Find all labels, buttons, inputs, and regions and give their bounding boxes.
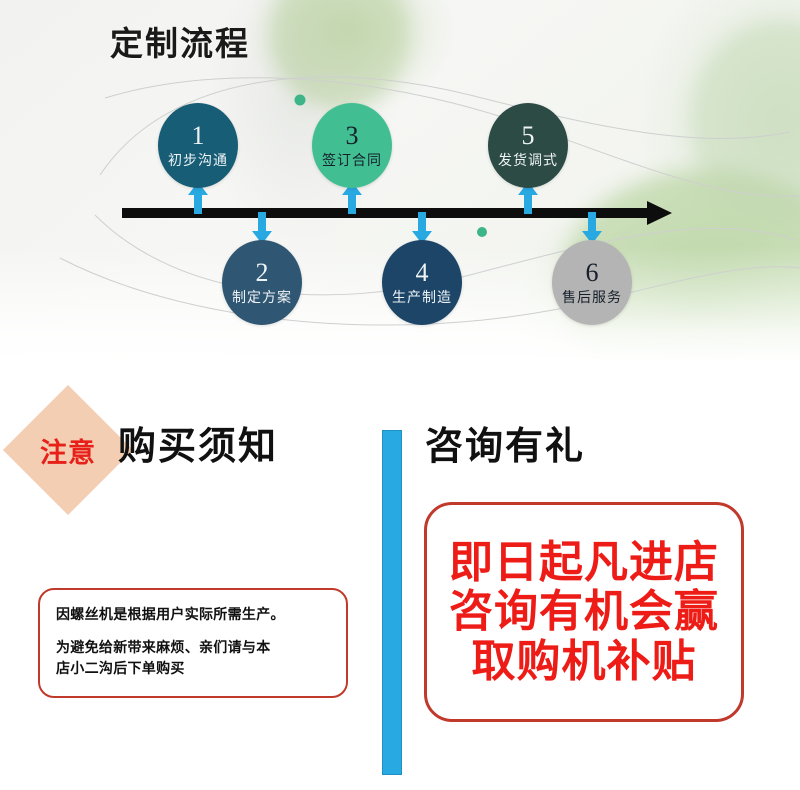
promo-line-2: 咨询有机会赢 bbox=[449, 587, 719, 636]
process-step-3[interactable]: 3 签订合同 bbox=[312, 103, 392, 188]
notice-line-3: 店小二沟后下单购买 bbox=[56, 658, 330, 678]
step-label: 发货调式 bbox=[498, 155, 558, 169]
purchase-notice-heading: 购买须知 bbox=[118, 415, 278, 470]
step-number: 4 bbox=[416, 260, 429, 286]
step-number: 6 bbox=[586, 260, 599, 286]
notice-line-1: 因螺丝机是根据用户实际所需生产。 bbox=[56, 604, 330, 624]
attention-badge-label: 注意 bbox=[28, 424, 108, 476]
notice-spacer bbox=[56, 624, 330, 637]
step-label: 初步沟通 bbox=[168, 155, 228, 169]
process-step-4[interactable]: 4 生产制造 bbox=[382, 240, 462, 325]
process-flow-section: 定制流程 1 初步沟通 3 签订合同 5 发货调式 2 制定方案 4 生 bbox=[0, 0, 800, 362]
process-step-6[interactable]: 6 售后服务 bbox=[552, 240, 632, 325]
accent-dot-1 bbox=[295, 95, 306, 106]
step-label: 制定方案 bbox=[232, 292, 292, 306]
step-label: 生产制造 bbox=[392, 292, 452, 306]
step-label: 签订合同 bbox=[322, 155, 382, 169]
accent-dot-2 bbox=[477, 227, 487, 237]
notice-line-2: 为避免给新带来麻烦、亲们请与本 bbox=[56, 637, 330, 657]
step-number: 1 bbox=[192, 123, 205, 149]
process-step-2[interactable]: 2 制定方案 bbox=[222, 240, 302, 325]
page-title: 定制流程 bbox=[110, 17, 250, 65]
promo-line-3: 取购机补贴 bbox=[472, 637, 697, 686]
process-step-1[interactable]: 1 初步沟通 bbox=[158, 103, 238, 188]
section-divider-bar bbox=[382, 430, 402, 775]
step-number: 3 bbox=[346, 123, 359, 149]
promo-line-1: 即日起凡进店 bbox=[449, 538, 719, 587]
step-label: 售后服务 bbox=[562, 292, 622, 306]
step-number: 2 bbox=[256, 260, 269, 286]
promo-heading: 咨询有礼 bbox=[425, 415, 585, 470]
process-step-5[interactable]: 5 发货调式 bbox=[488, 103, 568, 188]
step-number: 5 bbox=[522, 123, 535, 149]
promo-box: 即日起凡进店 咨询有机会赢 取购机补贴 bbox=[424, 502, 744, 722]
purchase-notice-box: 因螺丝机是根据用户实际所需生产。 为避免给新带来麻烦、亲们请与本 店小二沟后下单… bbox=[38, 588, 348, 698]
